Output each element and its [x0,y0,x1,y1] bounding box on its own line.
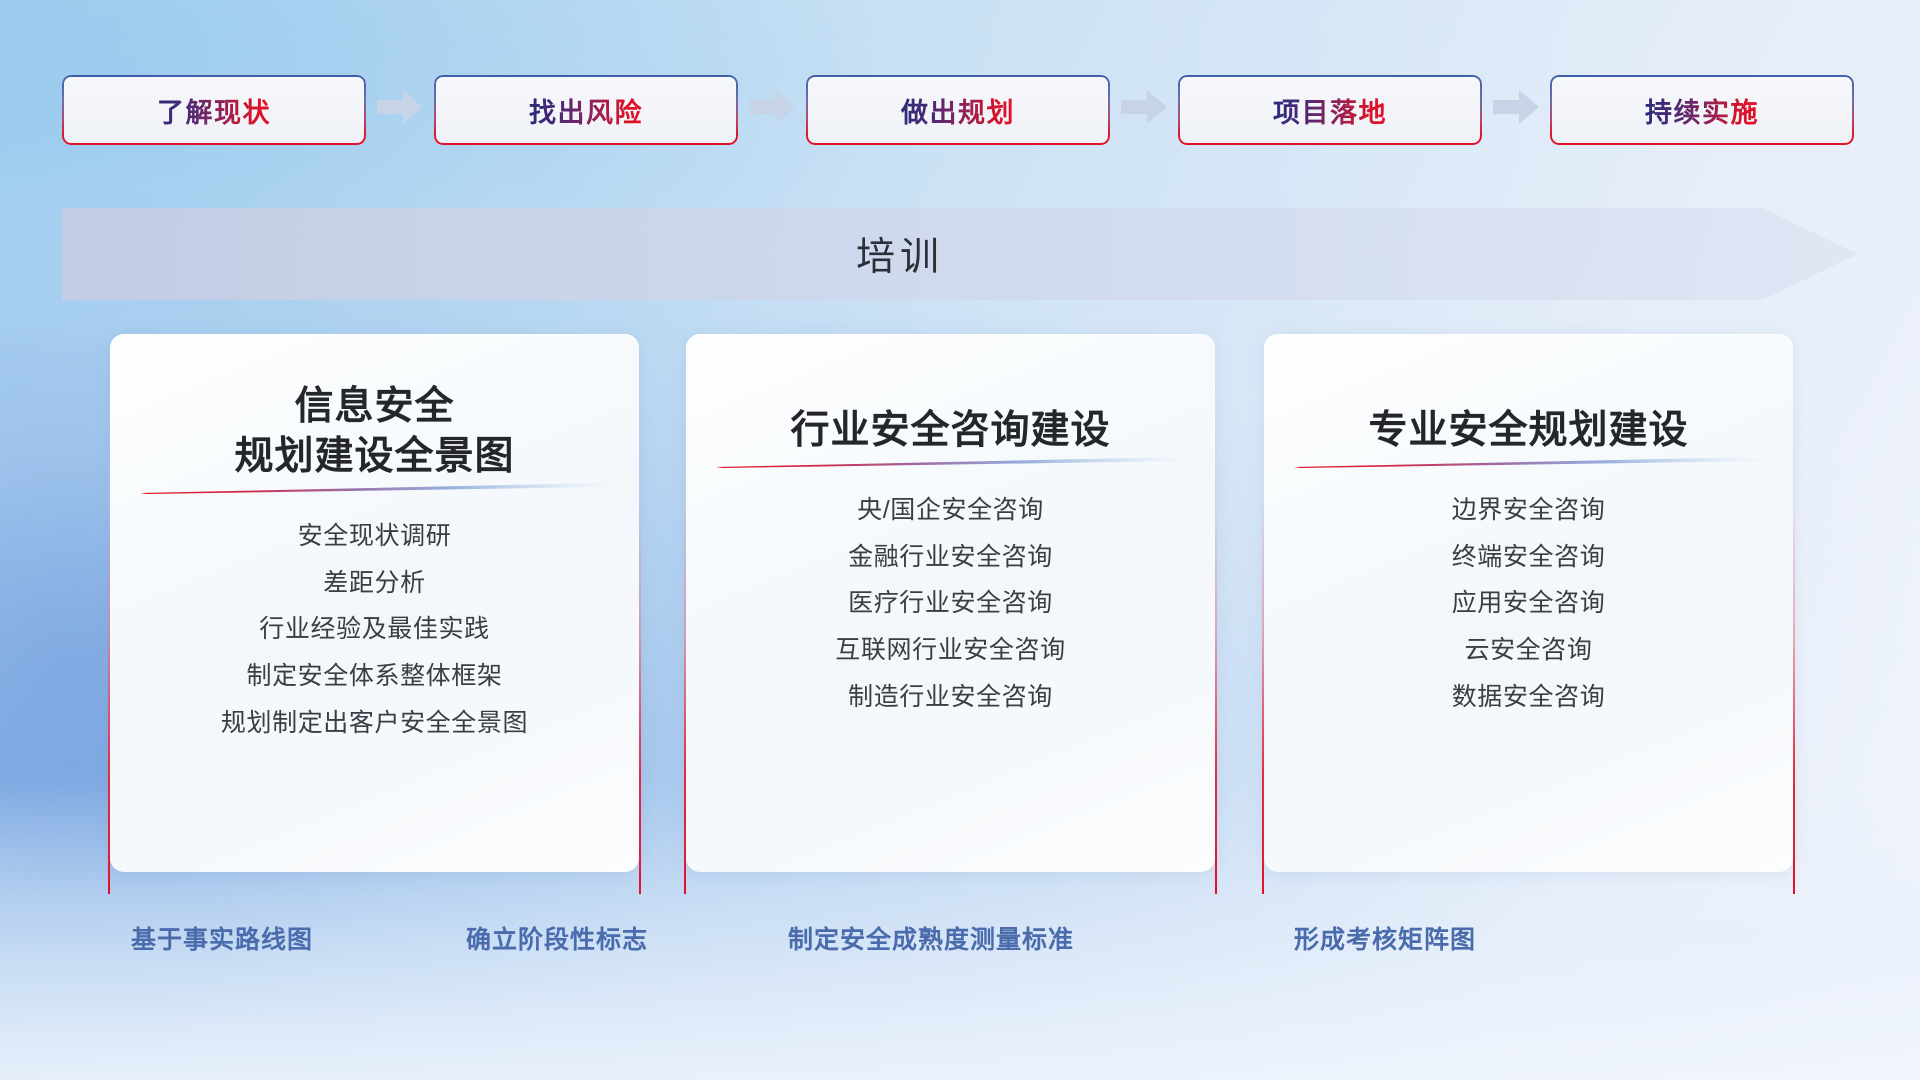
caption-3: 形成考核矩阵图 [1294,920,1476,956]
process-steps-row: 了解现状 找出风险 做出规划 项目落地 持续实施 [62,74,1858,146]
card-list-item: 终端安全咨询 [1452,541,1606,575]
card-right-accent-line [1793,352,1795,894]
card-2[interactable]: 专业安全规划建设 [1262,334,1795,894]
card-list-item: 云安全咨询 [1464,634,1592,668]
card-list-item: 规划制定出客户安全全景图 [221,707,528,741]
card-divider [138,482,611,494]
chevron-right-arrow-icon [366,90,434,130]
card-list: 边界安全咨询 终端安全咨询 应用安全咨询 云安全咨询 数据安全咨询 [1298,494,1759,715]
process-step-3[interactable]: 项目落地 [1178,75,1482,145]
banner-title: 培训 [62,208,1738,300]
captions-row: 基于事实路线图 确立阶段性标志 制定安全成熟度测量标准 形成考核矩阵图 [0,920,1920,964]
card-right-accent-line [1215,352,1217,894]
process-step-0[interactable]: 了解现状 [62,75,366,145]
process-step-label: 持续实施 [1645,91,1759,130]
card-list-item: 数据安全咨询 [1452,681,1606,715]
caption-2: 制定安全成熟度测量标准 [788,920,1074,956]
process-step-label: 了解现状 [157,91,271,130]
card-list-item: 金融行业安全咨询 [848,541,1053,575]
caption-0: 基于事实路线图 [131,920,313,956]
card-right-accent-line [639,352,641,894]
card-list-item: 安全现状调研 [298,520,452,554]
process-step-label: 找出风险 [529,91,643,130]
card-list: 安全现状调研 差距分析 行业经验及最佳实践 制定安全体系整体框架 规划制定出客户… [144,520,605,741]
card-list-item: 制定安全体系整体框架 [246,660,502,694]
card-list-item: 制造行业安全咨询 [848,681,1053,715]
card-title: 行业安全咨询建设 [720,406,1181,456]
card-1[interactable]: 行业安全咨询建设 [684,334,1217,894]
cards-row: 信息安全 规划建设全景图 [0,334,1920,894]
card-list-item: 行业经验及最佳实践 [259,613,489,647]
training-banner: 培训 [62,208,1858,300]
process-step-4[interactable]: 持续实施 [1550,75,1854,145]
card-surface: 行业安全咨询建设 [686,334,1215,872]
card-list-item: 差距分析 [323,567,425,601]
card-list-item: 医疗行业安全咨询 [848,587,1053,621]
card-surface: 信息安全 规划建设全景图 [110,334,639,872]
card-list-item: 央/国企安全咨询 [857,494,1044,528]
chevron-right-arrow-icon [1110,90,1178,130]
card-0[interactable]: 信息安全 规划建设全景图 [108,334,641,894]
card-divider [1292,456,1765,468]
card-divider [714,456,1187,468]
process-step-label: 做出规划 [901,91,1015,130]
card-list: 央/国企安全咨询 金融行业安全咨询 医疗行业安全咨询 互联网行业安全咨询 制造行… [720,494,1181,715]
chevron-right-arrow-icon [1482,90,1550,130]
card-title: 专业安全规划建设 [1298,406,1759,456]
chevron-right-arrow-icon [738,90,806,130]
card-list-item: 边界安全咨询 [1452,494,1606,528]
process-step-1[interactable]: 找出风险 [434,75,738,145]
card-list-item: 应用安全咨询 [1452,587,1606,621]
card-list-item: 互联网行业安全咨询 [835,634,1065,668]
process-step-label: 项目落地 [1273,91,1387,130]
process-step-2[interactable]: 做出规划 [806,75,1110,145]
caption-1: 确立阶段性标志 [466,920,648,956]
card-surface: 专业安全规划建设 [1264,334,1793,872]
card-title: 信息安全 规划建设全景图 [144,382,605,482]
